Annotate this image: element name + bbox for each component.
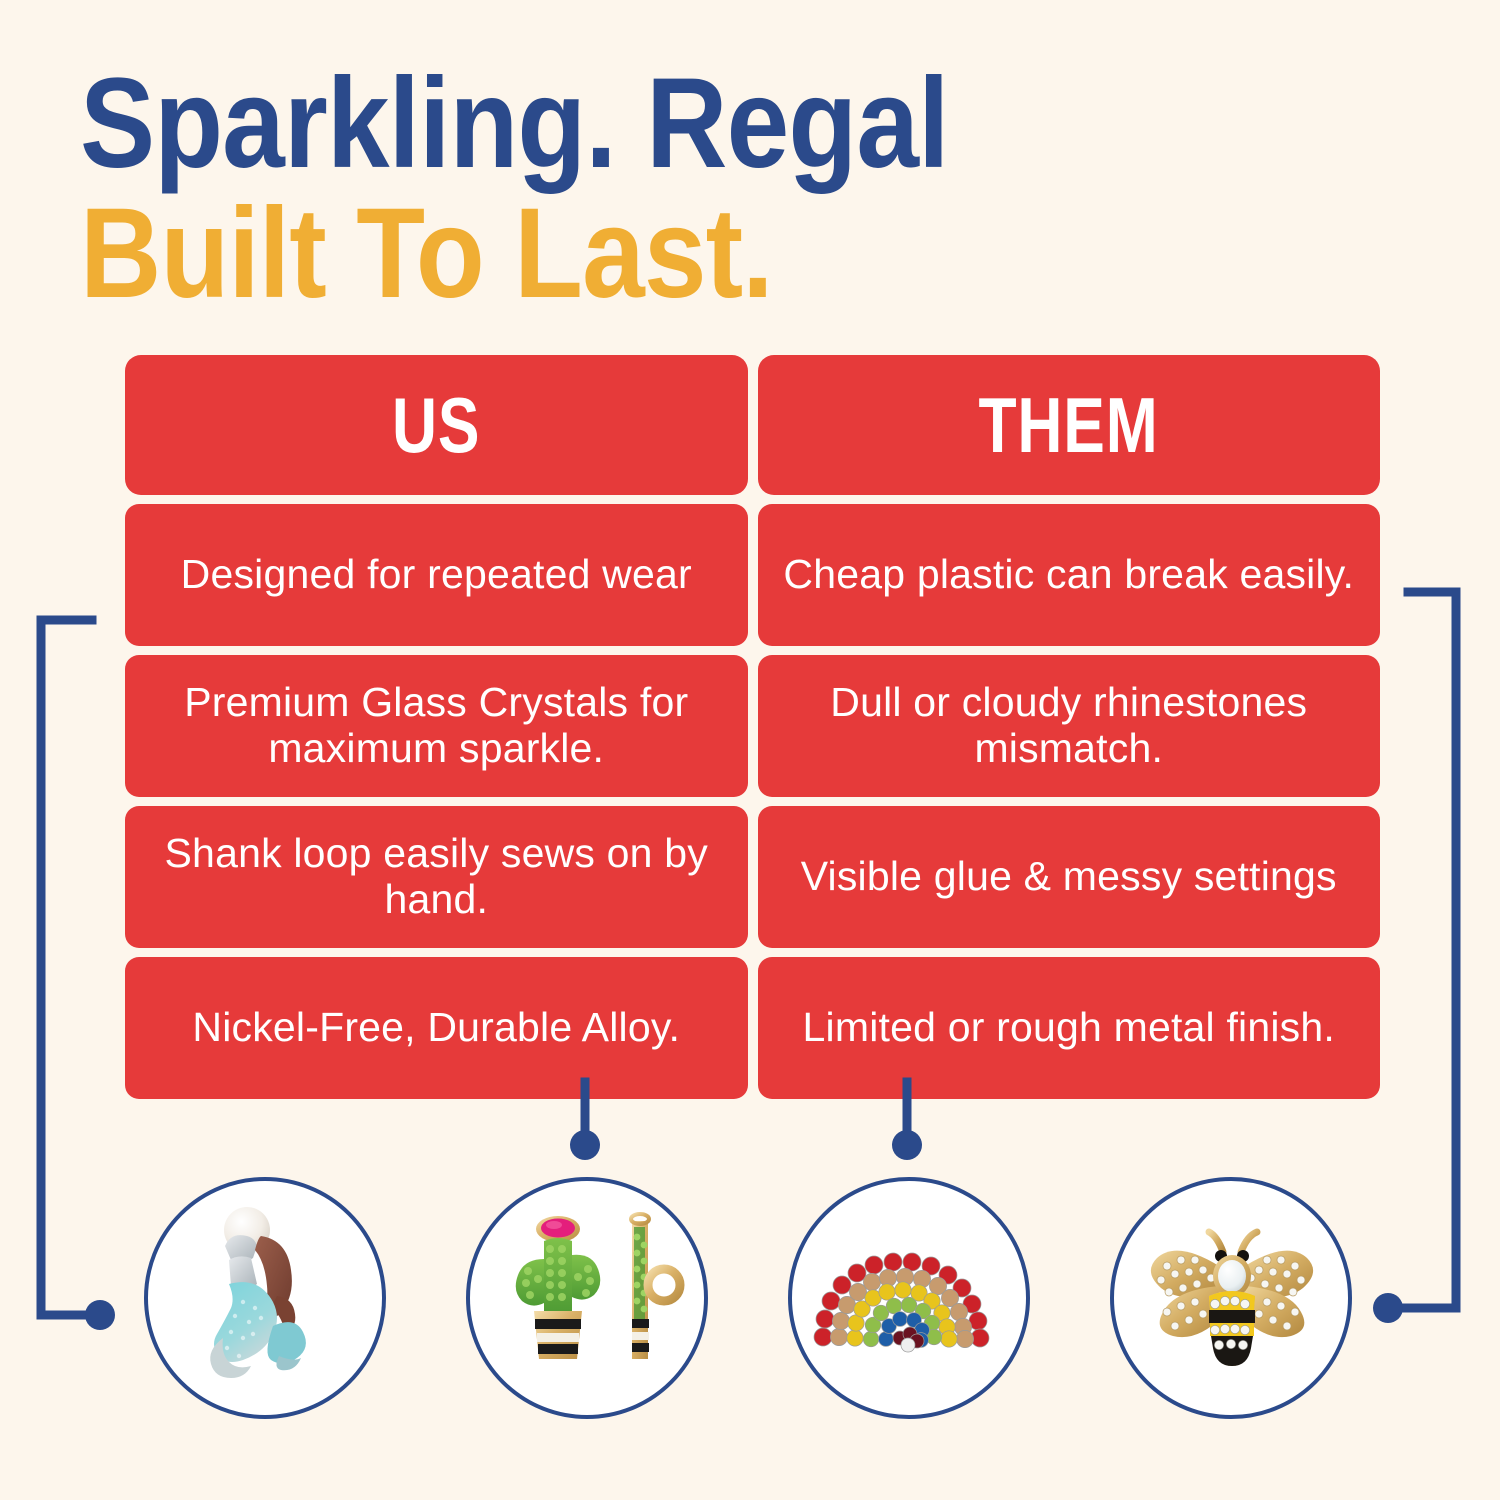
connector-dot-2 xyxy=(570,1130,600,1160)
table-row: Shank loop easily sews on by hand. Visib… xyxy=(125,806,1380,948)
cell-us-4: Nickel-Free, Durable Alloy. xyxy=(125,957,748,1099)
cell-us-3: Shank loop easily sews on by hand. xyxy=(125,806,748,948)
table-header-them-label: THEM xyxy=(979,386,1159,464)
table-row: Nickel-Free, Durable Alloy. Limited or r… xyxy=(125,957,1380,1099)
table-row: Designed for repeated wear Cheap plastic… xyxy=(125,504,1380,646)
comparison-table: US THEM Designed for repeated wear Cheap… xyxy=(125,355,1380,1108)
cell-us-2: Premium Glass Crystals for maximum spark… xyxy=(125,655,748,797)
product-circle-rainbow xyxy=(788,1177,1030,1419)
headline-line-secondary: Built To Last. xyxy=(80,192,1259,316)
cell-them-3: Visible glue & messy settings xyxy=(758,806,1381,948)
page-title: Sparkling. Regal Built To Last. xyxy=(80,62,1420,316)
table-header-us-label: US xyxy=(392,386,480,464)
cell-them-1: Cheap plastic can break easily. xyxy=(758,504,1381,646)
product-circle-mermaid xyxy=(144,1177,386,1419)
cell-them-4: Limited or rough metal finish. xyxy=(758,957,1381,1099)
connector-right-bracket xyxy=(1396,592,1456,1308)
connector-dot-4 xyxy=(1373,1293,1403,1323)
connector-left-bracket xyxy=(41,620,92,1315)
connector-dot-3 xyxy=(892,1130,922,1160)
headline-line-primary: Sparkling. Regal xyxy=(80,62,1259,186)
table-header-us: US xyxy=(125,355,748,495)
rainbow-button-icon xyxy=(809,1233,1009,1363)
product-circle-cactus xyxy=(466,1177,708,1419)
connector-dot-1 xyxy=(85,1300,115,1330)
table-header-row: US THEM xyxy=(125,355,1380,495)
bee-button-icon xyxy=(1131,1208,1331,1388)
table-row: Premium Glass Crystals for maximum spark… xyxy=(125,655,1380,797)
mermaid-button-icon xyxy=(165,1198,365,1398)
cell-them-2-text: Dull or cloudy rhinestones mismatch. xyxy=(776,680,1363,772)
cell-us-3-text: Shank loop easily sews on by hand. xyxy=(143,831,730,923)
cell-them-1-text: Cheap plastic can break easily. xyxy=(783,552,1354,598)
cactus-button-icon xyxy=(482,1193,692,1403)
cell-us-1: Designed for repeated wear xyxy=(125,504,748,646)
infographic-canvas: Sparkling. Regal Built To Last. US THEM … xyxy=(0,0,1500,1500)
cell-us-4-text: Nickel-Free, Durable Alloy. xyxy=(192,1005,680,1051)
cell-us-2-text: Premium Glass Crystals for maximum spark… xyxy=(143,680,730,772)
cell-them-2: Dull or cloudy rhinestones mismatch. xyxy=(758,655,1381,797)
cell-us-1-text: Designed for repeated wear xyxy=(181,552,692,598)
product-circle-bee xyxy=(1110,1177,1352,1419)
shank-loop-icon xyxy=(648,1269,680,1301)
table-header-them: THEM xyxy=(758,355,1381,495)
cell-them-4-text: Limited or rough metal finish. xyxy=(803,1005,1335,1051)
cell-them-3-text: Visible glue & messy settings xyxy=(801,854,1337,900)
